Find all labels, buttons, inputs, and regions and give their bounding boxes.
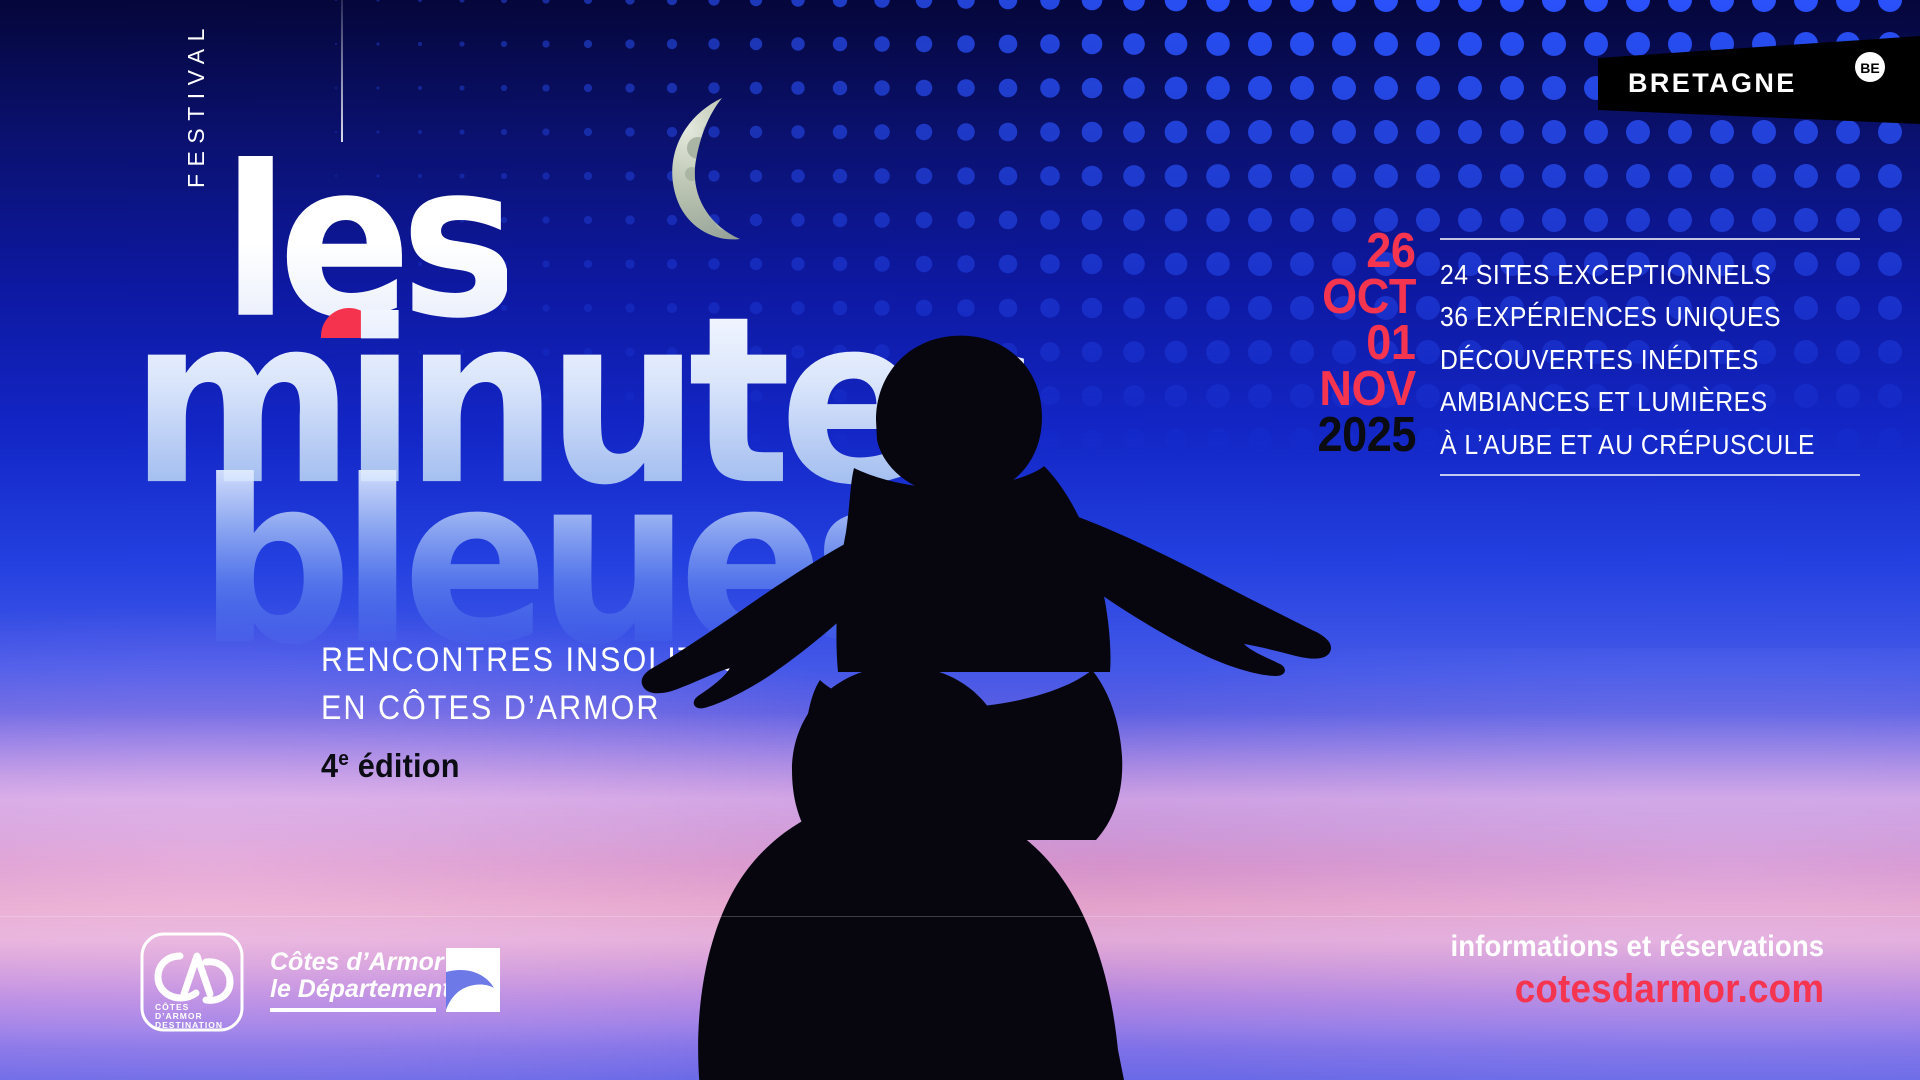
date-day-end: 01 bbox=[1367, 320, 1416, 366]
highlight-item: DÉCOUVERTES INÉDITES bbox=[1440, 338, 1818, 381]
bretagne-wordmark: BRETAGNE bbox=[1628, 68, 1797, 98]
highlights-bottom-rule bbox=[1440, 474, 1860, 476]
date-month-start: OCT bbox=[1322, 274, 1416, 320]
cta-url[interactable]: cotesdarmor.com bbox=[1450, 966, 1824, 1013]
cta-block: informations et réservations cotesdarmor… bbox=[1418, 930, 1824, 1013]
cad-line-3: DESTINATION bbox=[155, 1020, 223, 1030]
title-word-bleues: bleues bbox=[198, 470, 929, 655]
departement-emblem-icon bbox=[446, 948, 500, 1012]
edition-superscript: e bbox=[338, 747, 349, 770]
date-month-end: NOV bbox=[1320, 366, 1416, 412]
bretagne-badge-label: BE bbox=[1860, 60, 1879, 76]
title-block: FESTIVAL les minutes bleues RENCONTRES I… bbox=[0, 0, 960, 820]
date-year: 2025 bbox=[1318, 412, 1416, 458]
highlights-top-rule bbox=[1440, 238, 1860, 240]
festival-poster: BRETAGNE BE FESTIVAL les minutes bleues … bbox=[0, 0, 1920, 1080]
departement-line-2: le Département bbox=[270, 975, 452, 1003]
cotes-darmor-departement-logo[interactable]: Côtes d’Armor le Département bbox=[270, 942, 500, 1027]
edition-word: édition bbox=[358, 747, 460, 784]
partner-logos: CÔTES D’ARMOR DESTINATION Côtes d’Armor … bbox=[140, 932, 500, 1037]
highlight-item: 24 SITES EXCEPTIONNELS bbox=[1440, 253, 1818, 296]
highlight-item: À L’AUBE ET AU CRÉPUSCULE bbox=[1440, 423, 1818, 466]
date-column: 26 OCT 01 NOV 2025 bbox=[1300, 228, 1416, 476]
dates-and-highlights-panel: 26 OCT 01 NOV 2025 24 SITES EXCEPTIONNEL… bbox=[1300, 228, 1860, 476]
subtitle-line-1: RENCONTRES INSOLITES bbox=[321, 636, 743, 684]
highlights-items: 24 SITES EXCEPTIONNELS36 EXPÉRIENCES UNI… bbox=[1440, 253, 1860, 466]
festival-kicker: FESTIVAL bbox=[183, 21, 210, 188]
edition-number: 4 bbox=[321, 747, 338, 784]
edition-label: 4e édition bbox=[321, 747, 757, 785]
footer-divider bbox=[0, 916, 1920, 917]
cta-label: informations et réservations bbox=[1450, 930, 1824, 965]
departement-line-1: Côtes d’Armor bbox=[270, 948, 445, 976]
highlight-item: AMBIANCES ET LUMIÈRES bbox=[1440, 381, 1818, 424]
cotes-darmor-destination-logo[interactable]: CÔTES D’ARMOR DESTINATION bbox=[140, 932, 244, 1037]
date-day-start: 26 bbox=[1367, 228, 1416, 274]
highlights-list: 24 SITES EXCEPTIONNELS36 EXPÉRIENCES UNI… bbox=[1440, 228, 1860, 476]
highlight-item: 36 EXPÉRIENCES UNIQUES bbox=[1440, 296, 1818, 339]
bretagne-region-logo[interactable]: BRETAGNE BE bbox=[1598, 36, 1920, 124]
subtitle-line-2: EN CÔTES D’ARMOR bbox=[321, 684, 743, 732]
subtitle-block: RENCONTRES INSOLITES EN CÔTES D’ARMOR 4e… bbox=[321, 636, 790, 785]
